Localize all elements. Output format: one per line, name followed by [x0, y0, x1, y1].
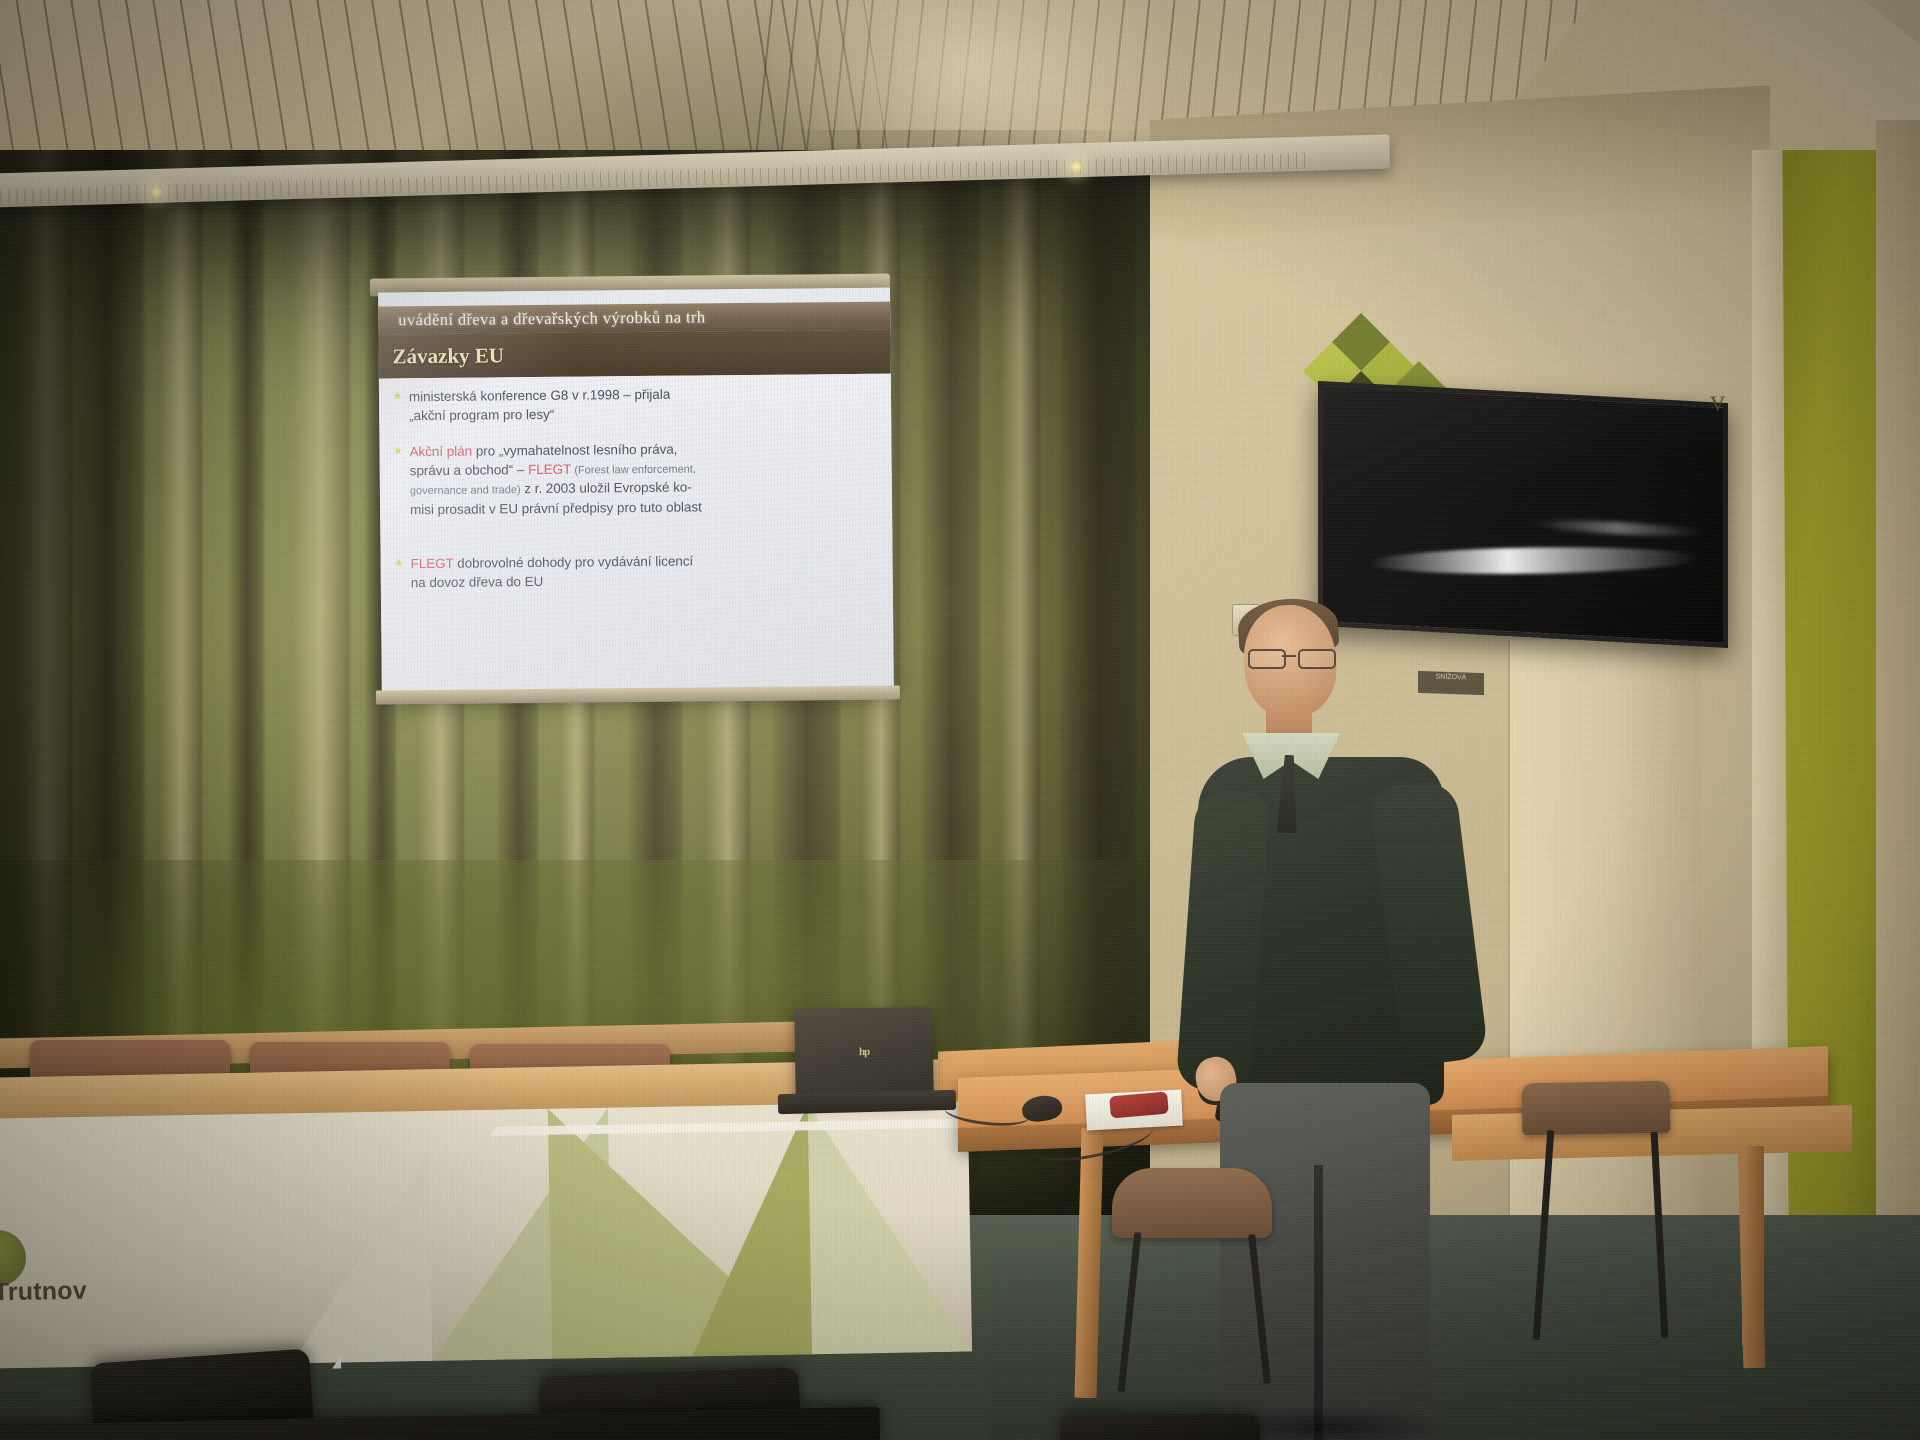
school-name-line1: á akademie Trutnov — [0, 1275, 170, 1310]
laptop-brand-logo: hp — [859, 1046, 876, 1058]
eyeglasses-icon — [1248, 649, 1334, 665]
wall-letter-fragment: v — [1710, 384, 1725, 418]
school-name-block: á akademie Trutnov šší odborná škola — [0, 1275, 170, 1334]
bullet-line: „akční program pro lesy“ — [409, 402, 875, 425]
slide-bullet-flegt-dohody: FLEGT dobrovolné dohody pro vydávání lic… — [395, 551, 877, 593]
slide-subtitle: Závazky EU — [378, 343, 504, 369]
foreground-seat — [1060, 1414, 1260, 1440]
projection-screen: uvádění dřeva a dřevařských výrobků na t… — [378, 288, 894, 695]
far-table-leg — [1742, 1146, 1764, 1346]
bullet-line: misi prosadit v EU právní předpisy pro t… — [410, 496, 876, 519]
lecture-hall-photo: v SNÍŽOVÁ uvádění dřeva a dřevařských vý… — [0, 0, 1920, 1440]
tv-screen-glare — [1368, 545, 1699, 576]
slide-header-title: uvádění dřeva a dřevařských výrobků na t… — [378, 307, 705, 330]
door-panel[interactable] — [1508, 640, 1700, 1300]
far-right-wall — [1876, 120, 1920, 1320]
laptop-lid[interactable]: hp — [794, 1007, 934, 1101]
chair-back — [1522, 1081, 1671, 1136]
slide-bullet-akcni-plan: Akční plán pro „vymahatelnost lesního pr… — [393, 439, 876, 520]
tv-screen-glare-secondary — [1533, 518, 1703, 539]
presenter-person — [1190, 605, 1480, 1440]
bullet-line: na dovoz dřeva do EU — [411, 569, 877, 592]
slide-subtitle-band: Závazky EU — [378, 330, 890, 379]
chair-back — [1112, 1168, 1272, 1238]
projection-screen-assembly: uvádění dřeva a dřevařských výrobků na t… — [378, 288, 902, 713]
bullet-star-icon — [393, 391, 402, 400]
slide-body: ministerská konference G8 v r.1998 – při… — [379, 374, 894, 695]
bullet-star-icon — [395, 558, 404, 567]
ceiling-light-glow — [760, 0, 1180, 130]
trouser-leg-split — [1314, 1165, 1323, 1440]
bullet-star-icon — [393, 446, 402, 455]
slide-bullet-g8: ministerská konference G8 v r.1998 – při… — [393, 384, 875, 426]
